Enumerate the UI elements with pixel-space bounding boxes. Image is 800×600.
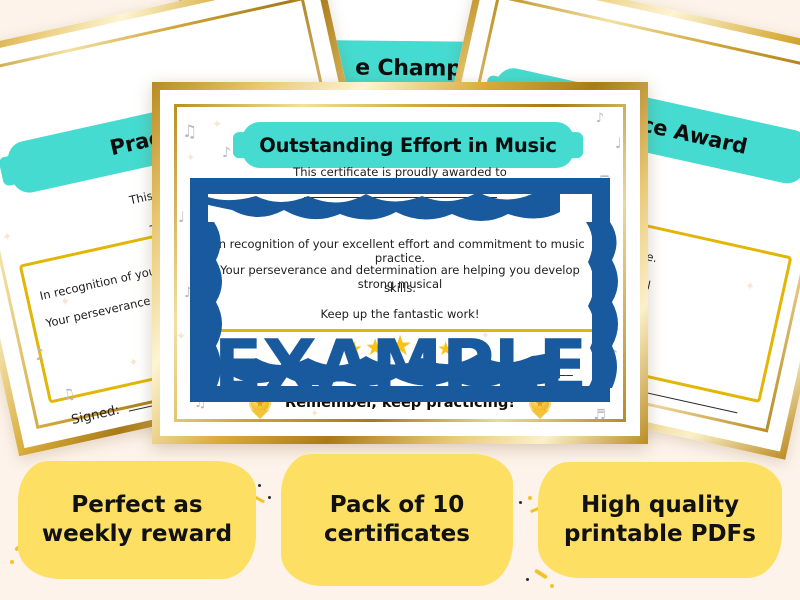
certificate-inner: ♫ ✦ ♪ ✦ ♪ ♩ ✦ ♬ ✦ ♩ ✦ ♪ ✦ ✦ ♫ ✦ ♪ ✦ ♬ ✦ (160, 90, 640, 436)
star-icon: ★ (415, 338, 436, 359)
main-certificate: ♫ ✦ ♪ ✦ ♪ ♩ ✦ ♬ ✦ ♩ ✦ ♪ ✦ ✦ ♫ ✦ ♪ ✦ ♬ ✦ (152, 82, 648, 444)
body-line-4: Keep up the fantastic work! (207, 307, 593, 321)
signature-line: ______________ (265, 362, 403, 377)
star-icon: ★ (387, 333, 412, 358)
certificate-footer: ★ Remember, keep practicing! ★ (160, 392, 640, 414)
star-icon: ★ (346, 341, 363, 358)
music-note-icon: ♪ (222, 146, 231, 160)
rosette-seal-icon: ★ (249, 392, 271, 414)
date-label: Date: (411, 362, 446, 377)
certificate-body-box: This certificate is proudly awarded to I… (204, 182, 596, 332)
date-line: _________________ (454, 362, 592, 377)
body-line-3: skills. (207, 281, 593, 295)
star-decor-icon: ✦ (186, 152, 195, 163)
feature-line-1: High quality (564, 491, 756, 520)
signed-label: Signed: (208, 362, 257, 377)
music-note-icon: ♪ (184, 286, 193, 300)
music-note-icon: ♩ (615, 136, 622, 151)
feature-line-2: weekly reward (42, 520, 232, 549)
star-icon: ★ (365, 338, 386, 359)
feature-line-1: Perfect as (42, 491, 232, 520)
footer-slogan: Remember, keep practicing! (285, 395, 515, 411)
star-decor-icon: ✦ (602, 300, 612, 312)
certificate-title-ribbon: Outstanding Effort in Music (242, 122, 574, 168)
feature-line-1: Pack of 10 (324, 491, 470, 520)
certificate-title: e Champ (355, 55, 462, 81)
product-listing-canvas: e Champ ♫ ✦ ♪ ✦ Practice This certifica (0, 0, 800, 600)
feature-pill-weekly-reward: Perfect as weekly reward (18, 461, 256, 579)
body-line-1: In recognition of your excellent effort … (207, 237, 593, 265)
feature-line-2: certificates (324, 520, 470, 549)
signature-row: Signed: ______________ Date: ___________… (208, 362, 592, 377)
feature-pill-pack-size: Pack of 10 certificates (281, 454, 513, 586)
rosette-seal-icon: ★ (529, 392, 551, 414)
gold-frame: ♫ ✦ ♪ ✦ ♪ ♩ ✦ ♬ ✦ ♩ ✦ ♪ ✦ ✦ ♫ ✦ ♪ ✦ ♬ ✦ (152, 82, 648, 444)
music-note-icon: ♩ (178, 210, 185, 225)
feature-pill-row: Perfect as weekly reward Pack of 10 cert… (0, 450, 800, 590)
awarded-to-label: This certificate is proudly awarded to (207, 165, 593, 179)
star-decor-icon: ✦ (212, 118, 222, 130)
feature-line-2: printable PDFs (564, 520, 756, 549)
certificate-title: Outstanding Effort in Music (259, 134, 557, 157)
music-note-icon: ♪ (596, 112, 604, 125)
star-rating-row: ★ ★ ★ ★ ★ (160, 333, 640, 358)
recipient-name-line (304, 197, 497, 198)
feature-pill-quality: High quality printable PDFs (538, 462, 782, 578)
star-icon: ★ (437, 341, 454, 358)
signed-label: Signed: (70, 403, 121, 428)
music-note-icon: ♬ (596, 174, 610, 190)
star-decor-icon: ✦ (1, 230, 13, 244)
music-note-icon: ♫ (182, 124, 197, 141)
